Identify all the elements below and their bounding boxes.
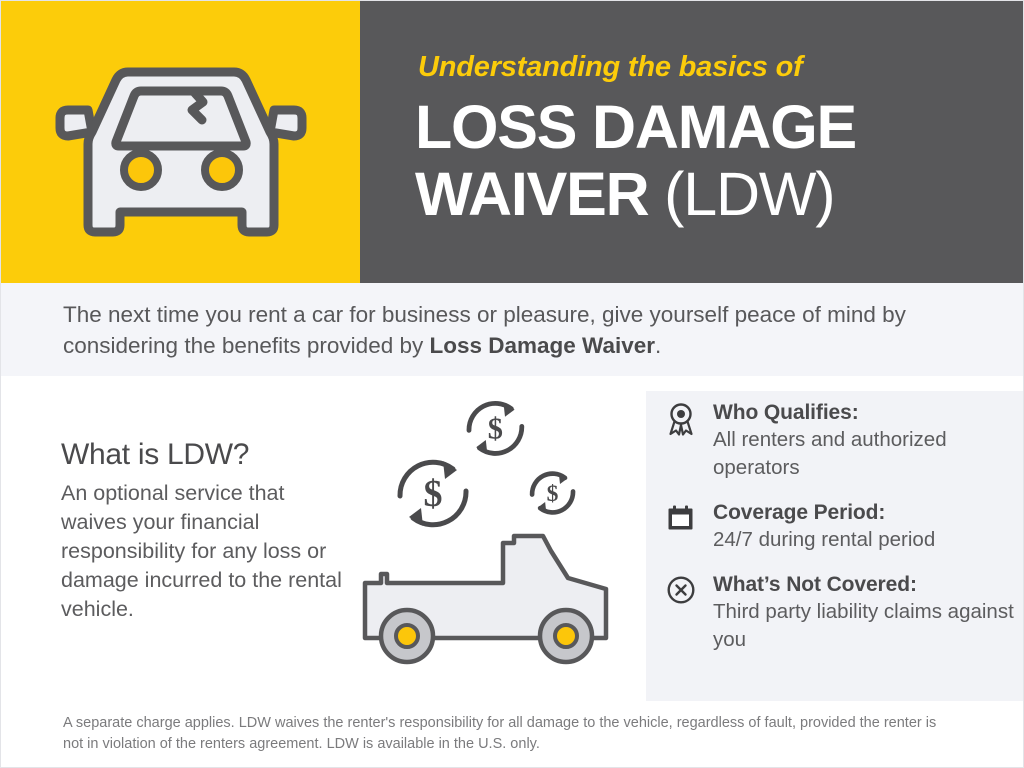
truck-illustration: $ $ $ <box>353 386 643 686</box>
feature-item-coverage-period: Coverage Period: 24/7 during rental peri… <box>666 499 1016 554</box>
x-circle-icon <box>666 571 708 605</box>
feature-item-who-qualifies: Who Qualifies: All renters and authorize… <box>666 399 1016 482</box>
main-content: What is LDW? An optional service that wa… <box>1 376 1024 701</box>
feature-title: What’s Not Covered: <box>713 571 1016 598</box>
feature-text-coverage-period: Coverage Period: 24/7 during rental peri… <box>708 499 1016 554</box>
dollar-refresh-icon-medium: $ <box>469 402 522 454</box>
calendar-icon <box>666 499 708 533</box>
footer: A separate charge applies. LDW waives th… <box>1 701 1024 768</box>
intro-text-part-2: . <box>655 333 661 358</box>
pickup-truck-with-dollar-refresh-icons: $ $ $ <box>353 386 643 686</box>
infographic-page: Understanding the basics of LOSS DAMAGE … <box>0 0 1024 768</box>
feature-item-not-covered: What’s Not Covered: Third party liabilit… <box>666 571 1016 654</box>
award-ribbon-icon <box>666 399 708 437</box>
footer-disclaimer: A separate charge applies. LDW waives th… <box>63 713 953 755</box>
intro-paragraph: The next time you rent a car for busines… <box>63 299 968 361</box>
header-title-bold: WAIVER <box>415 160 648 228</box>
header-title-light: (LDW) <box>648 160 834 228</box>
coverage-details-panel: Who Qualifies: All renters and authorize… <box>646 391 1024 703</box>
truck-front-wheel <box>540 610 592 662</box>
feature-list: Who Qualifies: All renters and authorize… <box>666 399 1016 671</box>
svg-text:$: $ <box>547 481 559 507</box>
truck-rear-wheel <box>381 610 433 662</box>
feature-title: Coverage Period: <box>713 499 1016 526</box>
intro-text-emphasis: Loss Damage Waiver <box>429 333 655 358</box>
header-title-line-1: LOSS DAMAGE <box>415 97 856 158</box>
svg-text:$: $ <box>488 411 503 445</box>
header-icon-panel <box>1 1 360 283</box>
damaged-car-icon <box>46 40 316 245</box>
what-is-ldw-column: What is LDW? An optional service that wa… <box>61 438 361 624</box>
feature-desc: All renters and authorized operators <box>713 426 1016 482</box>
feature-desc: Third party liability claims against you <box>713 598 1016 654</box>
feature-text-who-qualifies: Who Qualifies: All renters and authorize… <box>708 399 1016 482</box>
header-eyebrow: Understanding the basics of <box>418 51 803 84</box>
what-is-ldw-body: An optional service that waives your fin… <box>61 479 346 624</box>
header-title-line-2: WAIVER (LDW) <box>415 164 834 225</box>
feature-title: Who Qualifies: <box>713 399 1016 426</box>
header: Understanding the basics of LOSS DAMAGE … <box>1 1 1024 283</box>
dollar-refresh-icon-large: $ <box>400 461 466 526</box>
dollar-refresh-icon-small: $ <box>532 473 573 513</box>
header-title-panel: Understanding the basics of LOSS DAMAGE … <box>360 1 1024 283</box>
what-is-ldw-heading: What is LDW? <box>61 438 361 471</box>
feature-desc: 24/7 during rental period <box>713 526 1016 554</box>
svg-text:$: $ <box>424 473 443 515</box>
feature-text-not-covered: What’s Not Covered: Third party liabilit… <box>708 571 1016 654</box>
intro-band: The next time you rent a car for busines… <box>1 283 1024 376</box>
